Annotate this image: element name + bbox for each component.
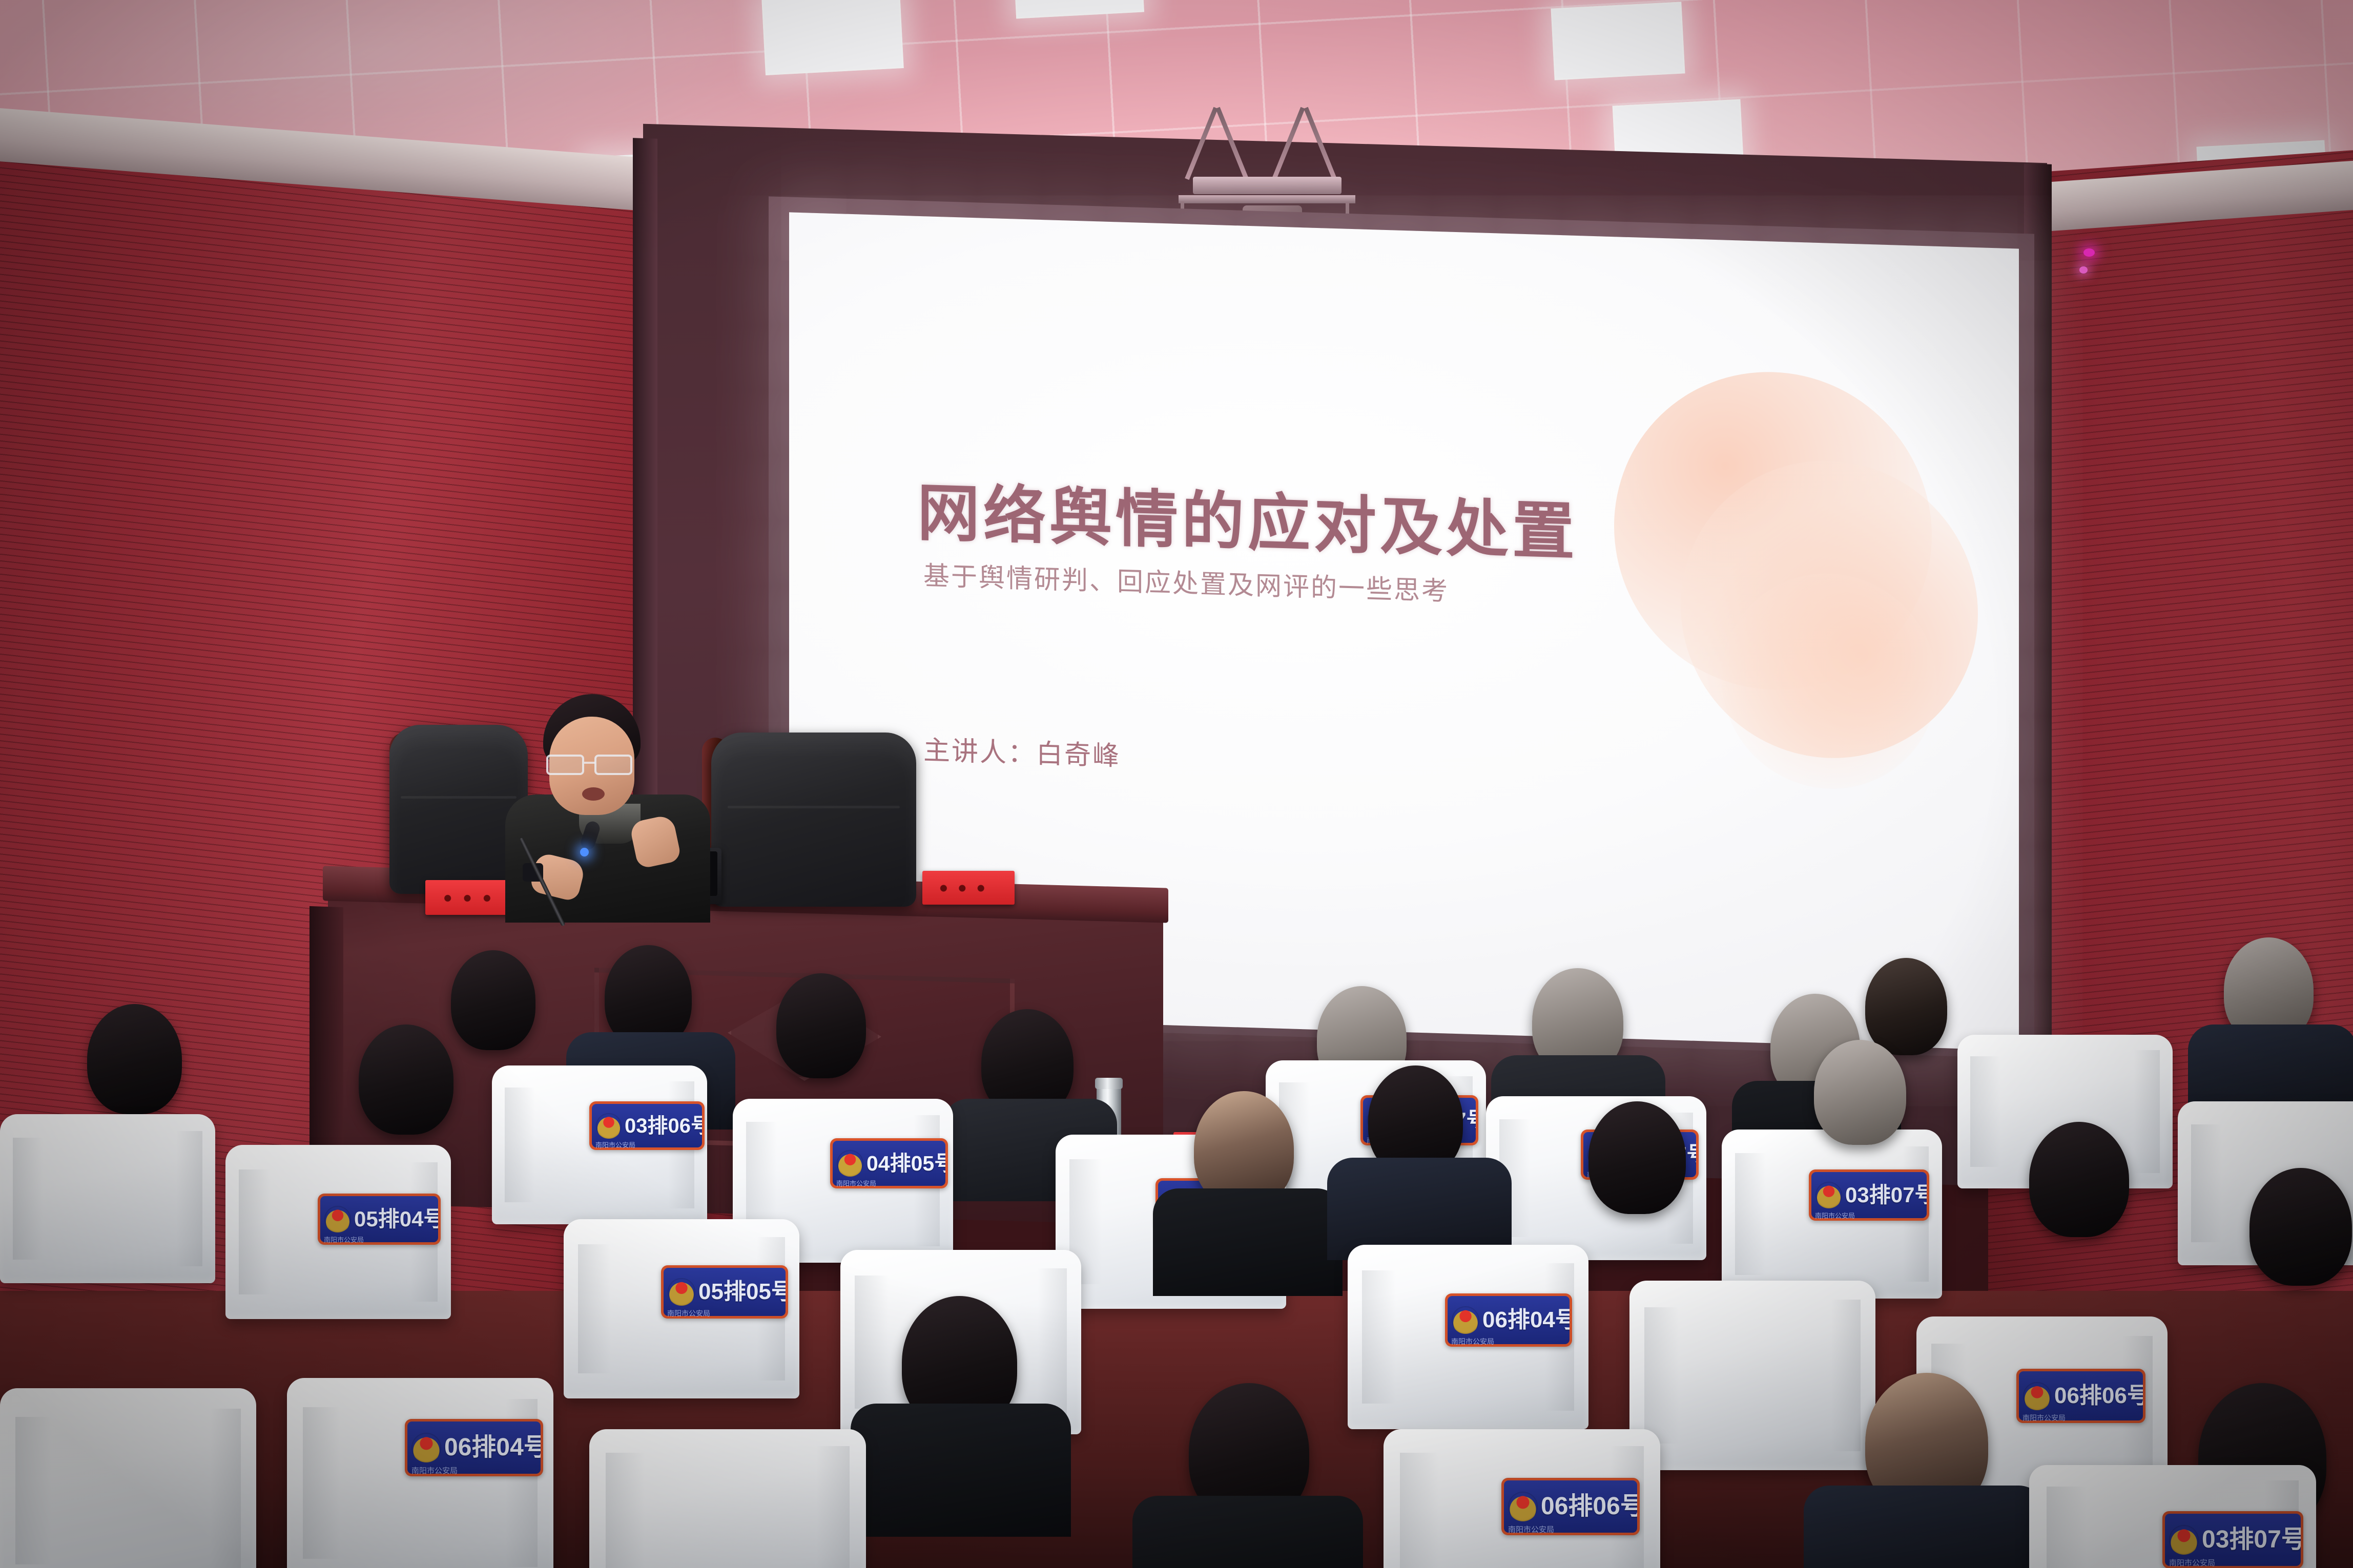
attendee-shoulders xyxy=(851,1404,1071,1537)
microphone-led-indicator xyxy=(580,848,589,856)
seat-tag-org: 南阳市公安局 xyxy=(1508,1526,1554,1533)
attendee-head xyxy=(2029,1122,2129,1237)
seat-tag-label: 06排04号 xyxy=(444,1435,541,1460)
audience-chair xyxy=(1629,1281,1875,1470)
attendee-head xyxy=(1814,1040,1906,1145)
name-card-right xyxy=(922,871,1015,905)
seat-tag: 03排07号 南阳市公安局 xyxy=(1809,1169,1929,1221)
seat-tag: 03排07号 南阳市公安局 xyxy=(2162,1511,2303,1568)
audience-chair xyxy=(0,1388,256,1568)
seat-tag-org: 南阳市公安局 xyxy=(2022,1414,2066,1420)
seat-tag-org: 南阳市公安局 xyxy=(324,1237,364,1242)
attendee-shoulders xyxy=(1804,1486,2045,1568)
police-emblem-icon xyxy=(1815,1182,1842,1208)
glasses-icon xyxy=(543,755,641,775)
seat-tag-org: 南阳市公安局 xyxy=(1815,1212,1855,1218)
projector-mount-plate xyxy=(1193,177,1341,194)
police-emblem-icon xyxy=(324,1206,351,1232)
speaker-mouth xyxy=(582,787,605,801)
seat-tag-label: 06排06号 xyxy=(2054,1385,2143,1407)
police-emblem-icon xyxy=(1508,1492,1538,1521)
police-emblem-icon xyxy=(2169,1525,2199,1555)
attendee-head xyxy=(1865,958,1947,1055)
scissor-lift-bracket xyxy=(1184,105,1348,182)
attendee-head xyxy=(359,1025,453,1135)
seat-tag-label: 03排07号 xyxy=(1845,1184,1927,1206)
seat-tag: 06排06号 南阳市公安局 xyxy=(1501,1478,1640,1535)
seat-tag: 03排06号 南阳市公安局 xyxy=(589,1101,705,1150)
attendee-head xyxy=(2249,1168,2352,1286)
attendee-head xyxy=(451,950,535,1050)
seat-tag-org: 南阳市公安局 xyxy=(2169,1559,2215,1566)
seat-tag-label: 03排06号 xyxy=(625,1116,702,1136)
police-emblem-icon xyxy=(411,1433,441,1462)
wall-led-indicator-secondary xyxy=(2079,266,2088,274)
ceiling-light-2 xyxy=(1551,2,1685,80)
seat-tag-label: 04排05号 xyxy=(866,1153,945,1174)
audience-chair xyxy=(0,1114,215,1283)
seat-tag: 06排06号 南阳市公安局 xyxy=(2016,1369,2145,1423)
wall-led-indicator xyxy=(2083,248,2095,257)
police-emblem-icon xyxy=(668,1278,695,1306)
seat-tag: 06排04号 南阳市公安局 xyxy=(1445,1293,1572,1347)
exec-chair-right xyxy=(711,733,916,907)
speaker-presenter xyxy=(502,694,717,909)
seat-tag-org: 南阳市公安局 xyxy=(836,1180,876,1186)
seat-tag: 06排04号 南阳市公安局 xyxy=(405,1419,543,1476)
seat-tag-org: 南阳市公安局 xyxy=(595,1142,635,1147)
attendee-shoulders xyxy=(1153,1188,1343,1296)
seat-tag-org: 南阳市公安局 xyxy=(411,1467,458,1474)
seat-tag-org: 南阳市公安局 xyxy=(667,1310,710,1316)
seat-tag-label: 06排06号 xyxy=(1541,1494,1637,1519)
attendee-head xyxy=(776,973,866,1078)
seat-tag: 05排05号 南阳市公安局 xyxy=(661,1265,788,1319)
projector-mount-bar xyxy=(1179,195,1355,203)
audience-chair xyxy=(589,1429,866,1568)
ceiling-light-1 xyxy=(761,0,903,75)
attendee-head xyxy=(1588,1101,1686,1214)
attendee-head xyxy=(87,1004,182,1114)
slide-title: 网络舆情的应对及处置 xyxy=(917,462,1578,572)
seat-tag: 05排04号 南阳市公安局 xyxy=(318,1194,441,1245)
slide-presenter-line: 主讲人：白奇峰 xyxy=(923,728,1121,772)
seat-tag-label: 06排04号 xyxy=(1482,1309,1570,1331)
police-emblem-icon xyxy=(2023,1382,2051,1410)
police-emblem-icon xyxy=(1452,1306,1479,1334)
conference-hall-scene: 网络舆情的应对及处置 基于舆情研判、回应处置及网评的一些思考 主讲人：白奇峰 xyxy=(0,0,2353,1568)
seat-tag: 04排05号 南阳市公安局 xyxy=(830,1138,948,1188)
police-emblem-icon xyxy=(596,1113,622,1139)
seat-tag-label: 05排05号 xyxy=(698,1281,786,1303)
police-emblem-icon xyxy=(837,1150,863,1177)
slide-decorative-blob-icon xyxy=(1614,367,1973,767)
attendee-shoulders xyxy=(1132,1496,1363,1568)
seat-tag-label: 03排07号 xyxy=(2202,1528,2301,1552)
seat-tag-label: 05排04号 xyxy=(354,1208,438,1230)
seat-tag-org: 南阳市公安局 xyxy=(1451,1338,1494,1344)
